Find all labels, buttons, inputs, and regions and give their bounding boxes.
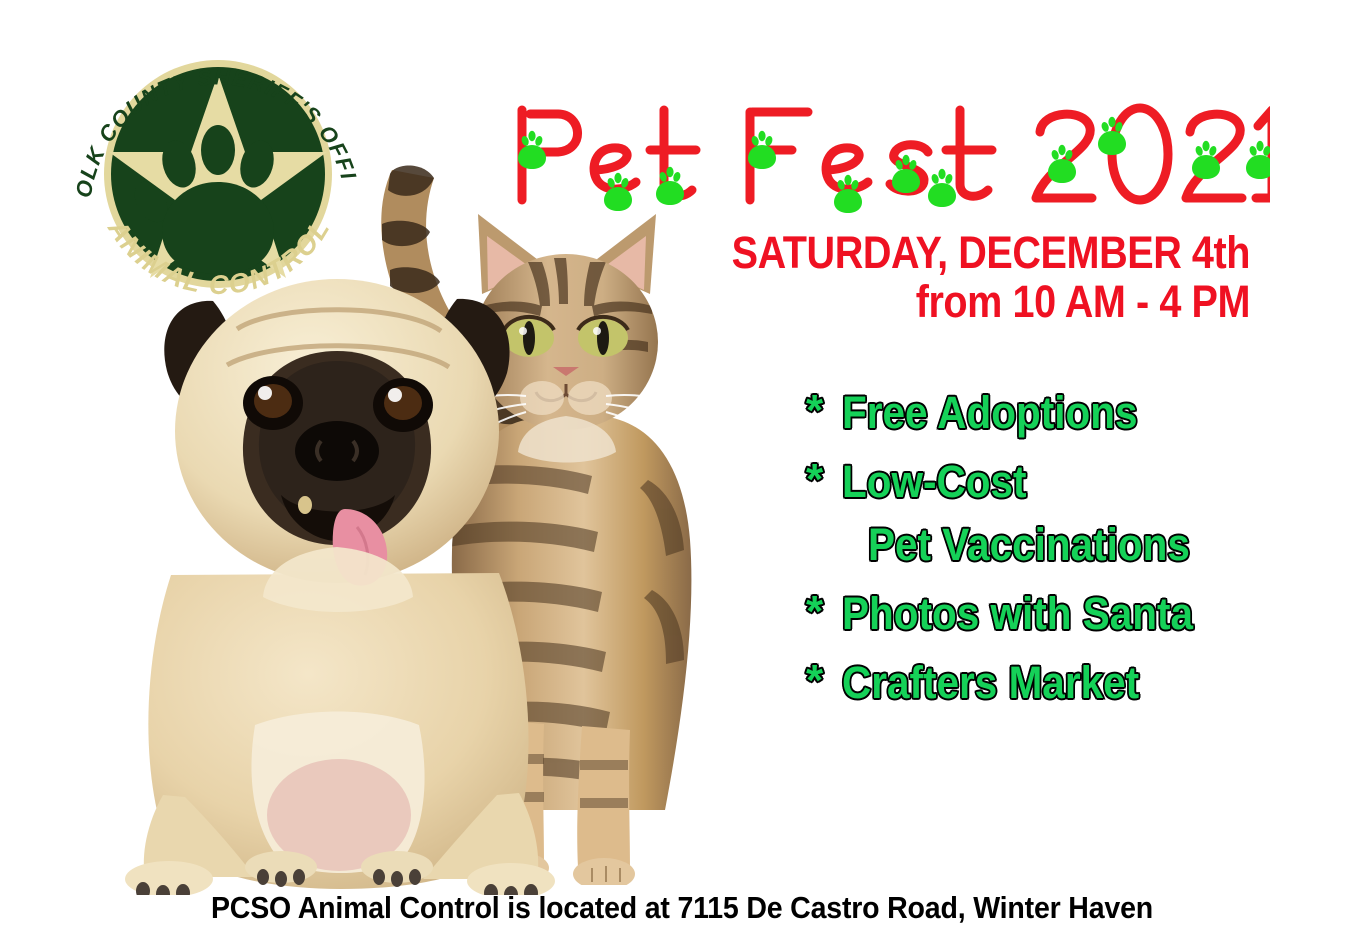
asterisk-bullet-icon: * [806, 591, 842, 633]
feature-item-photos-with-santa: * Photos with Santa [806, 591, 1276, 636]
event-title [500, 88, 1270, 223]
asterisk-bullet-icon: * [806, 660, 842, 702]
event-time-line: from 10 AM - 4 PM [696, 277, 1250, 326]
title-paw-prints [518, 117, 1270, 213]
feature-item-free-adoptions: * Free Adoptions [806, 390, 1276, 435]
event-date-line: SATURDAY, DECEMBER 4th [696, 228, 1250, 277]
asterisk-bullet-icon: * [806, 390, 842, 432]
feature-label: Crafters Market [842, 660, 1139, 705]
feature-list: * Free Adoptions * Low-Cost * Pet Vaccin… [806, 390, 1276, 729]
pug-tooth [298, 496, 312, 514]
location-footer: PCSO Animal Control is located at 7115 D… [0, 890, 1364, 926]
pug-head [175, 279, 499, 612]
pug-nose [295, 421, 379, 481]
pet-fest-flyer: POLK COUNTY SHERIFF'S OFFICE ANIMAL CONT… [0, 0, 1364, 950]
pug-dog-photo [105, 255, 575, 895]
feature-label: Low-Cost [842, 459, 1026, 504]
feature-label: Free Adoptions [842, 390, 1138, 435]
feature-item-crafters-market: * Crafters Market [806, 660, 1276, 705]
feature-label: Photos with Santa [842, 591, 1193, 636]
feature-label: Pet Vaccinations [868, 522, 1190, 567]
event-date-block: SATURDAY, DECEMBER 4th from 10 AM - 4 PM [620, 228, 1250, 326]
feature-item-low-cost: * Low-Cost [806, 459, 1276, 504]
feature-item-pet-vaccinations: * Pet Vaccinations [806, 522, 1276, 567]
location-text: PCSO Animal Control is located at 7115 D… [211, 890, 1153, 926]
asterisk-bullet-icon: * [806, 459, 842, 501]
